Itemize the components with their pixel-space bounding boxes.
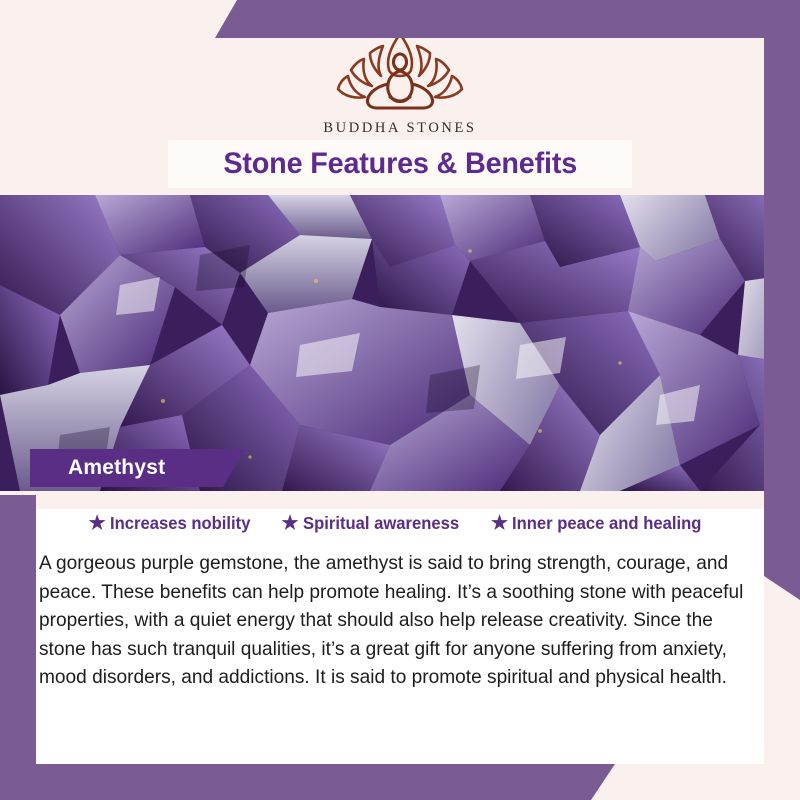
star-icon: ★	[89, 514, 106, 533]
benefit-item-1: ★ Increases nobility	[89, 513, 258, 534]
page-title: Stone Features & Benefits	[223, 147, 577, 181]
frame-band-right	[764, 0, 800, 600]
benefit-item-2: ★ Spiritual awareness	[282, 513, 467, 534]
benefit-label-3: Inner peace and healing	[512, 513, 701, 534]
benefit-label-1: Increases nobility	[110, 513, 250, 534]
frame-band-bottom	[0, 764, 615, 800]
amethyst-photo	[0, 195, 800, 491]
benefit-item-3: ★ Inner peace and healing	[491, 513, 711, 534]
crystal-cluster-illustration	[0, 195, 800, 491]
lotus-meditation-icon	[320, 26, 480, 118]
benefit-label-2: Spiritual awareness	[303, 513, 459, 534]
stone-name-ribbon: Amethyst	[30, 449, 245, 487]
star-icon: ★	[282, 514, 299, 533]
brand-logo: BUDDHA STONES	[0, 26, 800, 137]
stone-description: A gorgeous purple gemstone, the amethyst…	[39, 549, 744, 692]
stone-name: Amethyst	[30, 456, 165, 480]
frame-band-top	[215, 0, 800, 38]
content-panel: ★ Increases nobility ★ Spiritual awarene…	[36, 491, 764, 764]
benefits-list: ★ Increases nobility ★ Spiritual awarene…	[36, 513, 764, 534]
infographic-poster: BUDDHA STONES Stone Features & Benefits	[0, 0, 800, 800]
frame-band-left	[0, 495, 36, 800]
star-icon: ★	[491, 514, 508, 533]
content-top-strip	[36, 491, 764, 509]
title-banner: Stone Features & Benefits	[168, 140, 632, 188]
brand-name: BUDDHA STONES	[0, 120, 800, 137]
